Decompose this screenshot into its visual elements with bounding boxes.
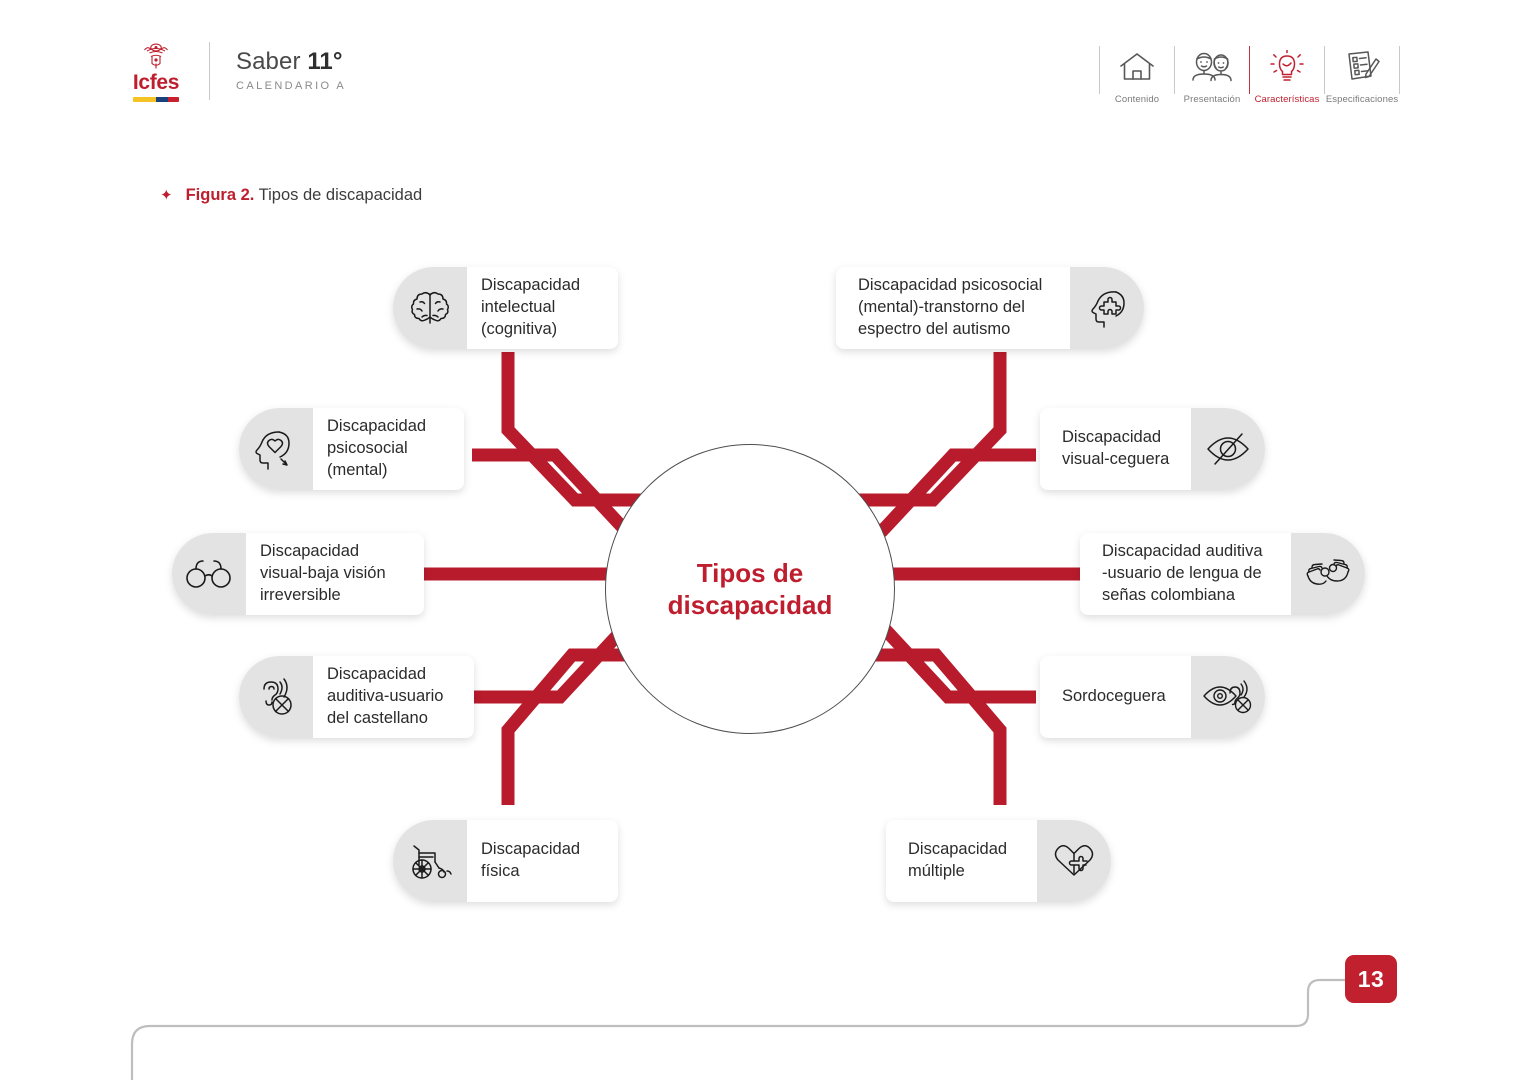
node-fisica[interactable]: Discapacidad física [393, 820, 618, 902]
node-intelectual[interactable]: Discapacidad intelectual (cognitiva) [393, 267, 618, 349]
node-lengua-senas[interactable]: Discapacidad auditiva -usuario de lengua… [1080, 533, 1365, 615]
node-ceguera-label: Discapacidad visual-ceguera [1040, 427, 1191, 471]
node-fisica-label: Discapacidad física [467, 839, 618, 883]
node-multiple-label: Discapacidad múltiple [886, 839, 1037, 883]
figure-caption-label: Figura 2. [186, 186, 255, 204]
figure-caption-text: Figura 2. Tipos de discapacidad [186, 186, 423, 205]
diagram-center-node: Tipos de discapacidad [605, 444, 895, 734]
clipboard-pencil-icon [1342, 44, 1382, 90]
wheelchair-icon [393, 820, 467, 902]
nav-item-presentacion[interactable]: Presentación [1175, 44, 1249, 105]
node-lengua-senas-label: Discapacidad auditiva -usuario de lengua… [1080, 541, 1291, 607]
nav-item-contenido[interactable]: Contenido [1100, 44, 1174, 105]
node-ceguera[interactable]: Discapacidad visual-ceguera [1040, 408, 1265, 490]
node-baja-vision-label: Discapacidad visual-baja visión irrevers… [246, 541, 424, 607]
node-multiple[interactable]: Discapacidad múltiple [886, 820, 1111, 902]
brand-title-bold: 11° [307, 48, 342, 75]
node-intelectual-label: Discapacidad intelectual (cognitiva) [467, 275, 618, 341]
lightbulb-icon [1269, 44, 1305, 90]
brain-icon [393, 267, 467, 349]
head-heart-icon [239, 408, 313, 490]
brand-block: Icfes Saber 11° CALENDARIO A [125, 38, 346, 104]
brand-title-plain: Saber [236, 48, 307, 75]
figure-caption-title: Tipos de discapacidad [254, 186, 422, 204]
nav-item-caracteristicas[interactable]: Características [1250, 44, 1324, 105]
node-sordoceguera[interactable]: Sordoceguera [1040, 656, 1265, 738]
icfes-wordmark: Icfes [133, 72, 179, 93]
glasses-icon [172, 533, 246, 615]
head-puzzle-icon [1070, 267, 1144, 349]
page-header: Icfes Saber 11° CALENDARIO A [0, 0, 1530, 125]
footer-decorative-line [132, 980, 1345, 1080]
heart-puzzle-icon [1037, 820, 1111, 902]
icfes-logo: Icfes [125, 41, 187, 102]
node-baja-vision[interactable]: Discapacidad visual-baja visión irrevers… [172, 533, 424, 615]
nav-label-especificaciones: Especificaciones [1326, 94, 1398, 105]
star-icon: ✦ [160, 188, 173, 203]
node-sordoceguera-label: Sordoceguera [1040, 686, 1191, 708]
nav-label-presentacion: Presentación [1184, 94, 1241, 105]
top-navigation: Contenido [1099, 44, 1400, 105]
node-auditiva-castellano[interactable]: Discapacidad auditiva-usuario del castel… [239, 656, 474, 738]
colombia-coat-of-arms-icon [143, 41, 169, 71]
figure-caption: ✦ Figura 2. Tipos de discapacidad [160, 186, 422, 205]
sign-language-icon [1291, 533, 1365, 615]
brand-title: Saber 11° [236, 48, 346, 77]
brand-subtitle: CALENDARIO A [236, 80, 346, 92]
node-autismo[interactable]: Discapacidad psicosocial (mental)-transt… [836, 267, 1144, 349]
node-psicosocial-label: Discapacidad psicosocial (mental) [313, 416, 464, 482]
diagram-center-label: Tipos de discapacidad [668, 557, 833, 622]
nav-label-caracteristicas: Características [1255, 94, 1320, 105]
page-root: Icfes Saber 11° CALENDARIO A [0, 0, 1530, 1080]
brand-divider [209, 42, 210, 100]
node-psicosocial[interactable]: Discapacidad psicosocial (mental) [239, 408, 464, 490]
page-number-badge: 13 [1345, 955, 1397, 1003]
nav-label-contenido: Contenido [1115, 94, 1159, 105]
colombia-flag-bar-icon [133, 97, 179, 102]
nav-divider [1399, 46, 1400, 94]
brand-text: Saber 11° CALENDARIO A [236, 48, 346, 95]
two-people-icon [1189, 44, 1235, 90]
house-icon [1118, 44, 1156, 90]
eye-ear-crossed-icon [1191, 656, 1265, 738]
ear-crossed-icon [239, 656, 313, 738]
page-number: 13 [1358, 966, 1385, 993]
node-auditiva-castellano-label: Discapacidad auditiva-usuario del castel… [313, 664, 474, 730]
nav-item-especificaciones[interactable]: Especificaciones [1325, 44, 1399, 105]
eye-crossed-icon [1191, 408, 1265, 490]
node-autismo-label: Discapacidad psicosocial (mental)-transt… [836, 275, 1070, 341]
